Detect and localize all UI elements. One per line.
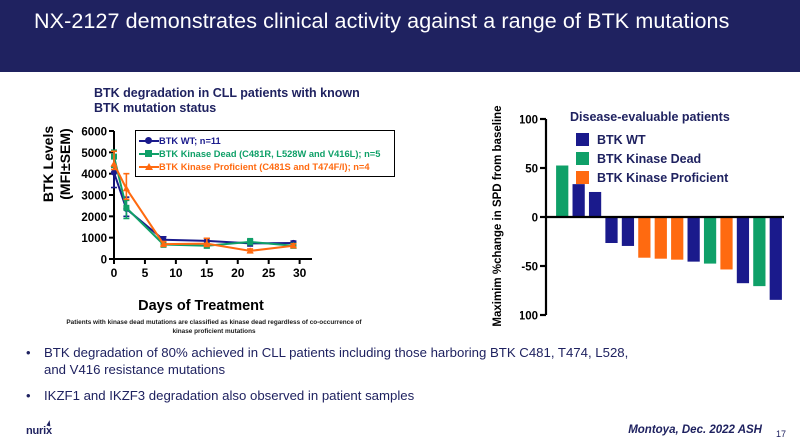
- legend-item-kinase-dead: BTK Kinase Dead (C481R, L528W and V416L)…: [139, 147, 390, 160]
- triangle-marker-icon: [139, 161, 159, 172]
- legend-item-kinase-proficient: BTK Kinase Proficient: [576, 168, 728, 187]
- legend-label: BTK WT: [597, 133, 646, 147]
- svg-text:5000: 5000: [81, 148, 107, 160]
- svg-text:4000: 4000: [81, 169, 107, 181]
- legend-swatch-icon: [576, 133, 589, 146]
- line-chart-footnote: Patients with kinase dead mutations are …: [64, 318, 364, 336]
- svg-text:15: 15: [200, 266, 214, 280]
- waterfall-legend: BTK WT BTK Kinase Dead BTK Kinase Profic…: [576, 130, 728, 187]
- circle-marker-icon: [139, 135, 159, 146]
- nurix-logo: nurix: [26, 425, 52, 437]
- svg-text:25: 25: [262, 266, 276, 280]
- legend-label: BTK Kinase Dead (C481R, L528W and V416L)…: [159, 149, 380, 159]
- svg-text:5: 5: [142, 266, 149, 280]
- svg-text:3000: 3000: [81, 191, 107, 203]
- legend-label: BTK Kinase Proficient (C481S and T474F/I…: [159, 162, 370, 172]
- page-title: NX-2127 demonstrates clinical activity a…: [34, 6, 774, 36]
- legend-swatch-icon: [576, 171, 589, 184]
- line-chart-title: BTK degradation in CLL patients with kno…: [94, 86, 374, 116]
- square-marker-icon: [139, 148, 159, 159]
- bullet-dot-icon: •: [26, 344, 44, 378]
- svg-text:-100: -100: [520, 311, 538, 323]
- svg-text:0: 0: [532, 213, 538, 225]
- legend-swatch-icon: [576, 152, 589, 165]
- svg-text:2000: 2000: [81, 212, 107, 224]
- line-chart-x-axis-label: Days of Treatment: [76, 298, 326, 314]
- legend-label: BTK Kinase Proficient: [597, 171, 728, 185]
- page-number: 17: [776, 429, 786, 439]
- svg-text:10: 10: [169, 266, 183, 280]
- legend-item-btk-wt: BTK WT: [576, 130, 728, 149]
- svg-text:30: 30: [293, 266, 307, 280]
- list-item: • IKZF1 and IKZF3 degradation also obser…: [26, 387, 646, 404]
- svg-text:0: 0: [101, 255, 107, 267]
- svg-text:-50: -50: [521, 262, 538, 274]
- legend-item-btk-wt: BTK WT; n=11: [139, 134, 390, 147]
- svg-text:20: 20: [231, 266, 245, 280]
- citation: Montoya, Dec. 2022 ASH: [628, 424, 762, 436]
- legend-label: BTK Kinase Dead: [597, 152, 701, 166]
- waterfall-y-axis-label: Maximim %change in SPD from baseline: [492, 96, 504, 336]
- svg-text:0: 0: [111, 266, 118, 280]
- line-chart: BTK degradation in CLL patients with kno…: [18, 86, 378, 346]
- svg-text:1000: 1000: [81, 233, 107, 245]
- svg-text:100: 100: [520, 115, 538, 127]
- line-chart-y-axis-label: BTK Levels(MFI±SEM): [40, 104, 74, 224]
- logo-text: nurix: [26, 425, 52, 437]
- bullet-text: IKZF1 and IKZF3 degradation also observe…: [44, 387, 414, 404]
- bullet-dot-icon: •: [26, 387, 44, 404]
- svg-text:50: 50: [525, 164, 538, 176]
- waterfall-chart: Disease-evaluable patients Maximim %chan…: [478, 86, 800, 346]
- bullet-text: BTK degradation of 80% achieved in CLL p…: [44, 344, 646, 378]
- list-item: • BTK degradation of 80% achieved in CLL…: [26, 344, 646, 378]
- legend-item-kinase-proficient: BTK Kinase Proficient (C481S and T474F/I…: [139, 160, 390, 173]
- svg-text:6000: 6000: [81, 127, 107, 139]
- legend-item-kinase-dead: BTK Kinase Dead: [576, 149, 728, 168]
- bullet-list: • BTK degradation of 80% achieved in CLL…: [26, 344, 646, 413]
- legend-label: BTK WT; n=11: [159, 136, 221, 146]
- line-chart-legend: BTK WT; n=11 BTK Kinase Dead (C481R, L52…: [135, 130, 395, 177]
